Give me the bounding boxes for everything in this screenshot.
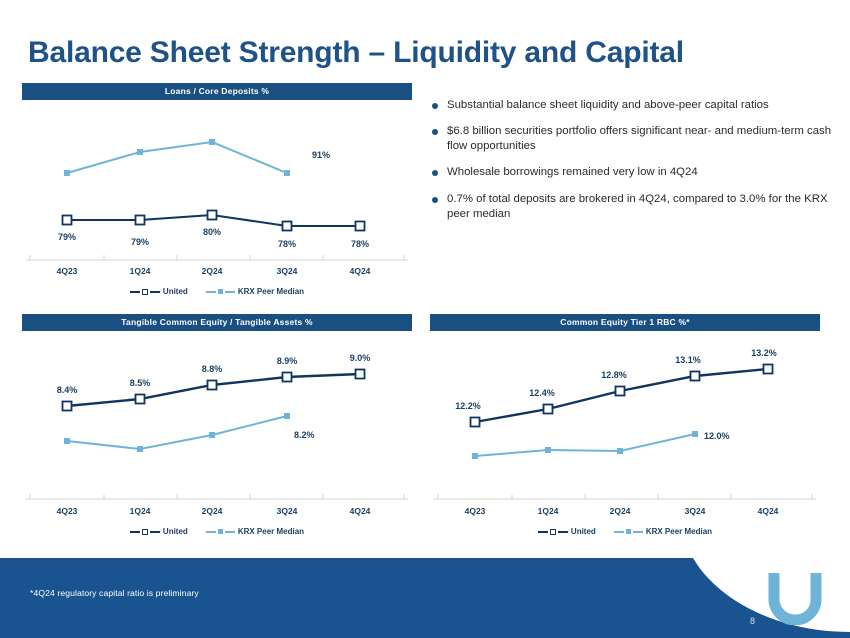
united-community-bank-logo-icon <box>766 567 826 625</box>
legend-label-united: United <box>571 527 596 536</box>
svg-text:12.4%: 12.4% <box>529 388 555 398</box>
chart-panel-loans-core-deposits: Loans / Core Deposits % <box>22 83 412 296</box>
legend-line-peer-icon-2 <box>225 531 235 533</box>
legend-marker-peer-icon <box>218 529 223 534</box>
legend-line-united-icon-2 <box>150 531 160 533</box>
legend-label-peer: KRX Peer Median <box>238 527 304 536</box>
xtick-3q24: 3Q24 <box>685 506 706 516</box>
xtick-4q24: 4Q24 <box>350 266 371 276</box>
list-item: Wholesale borrowings remained very low i… <box>432 165 832 180</box>
legend-line-united-icon-2 <box>150 291 160 293</box>
legend-label-united: United <box>163 287 188 296</box>
chart-xaxis-tce: 4Q23 1Q24 2Q24 3Q24 4Q24 <box>22 503 412 525</box>
bullet-list: Substantial balance sheet liquidity and … <box>432 98 832 233</box>
datalabel-peer-3q24: 91% <box>312 150 330 160</box>
chart-legend-cet1: United KRX Peer Median <box>430 527 820 536</box>
xtick-4q24: 4Q24 <box>350 506 371 516</box>
xtick-4q23: 4Q23 <box>57 506 78 516</box>
legend-line-united-icon-2 <box>558 531 568 533</box>
bullet-text: Substantial balance sheet liquidity and … <box>447 98 769 113</box>
datalabel-peer-tce-3q24: 8.2% <box>294 430 315 440</box>
xtick-3q24: 3Q24 <box>277 266 298 276</box>
xtick-1q24: 1Q24 <box>130 266 151 276</box>
chart-panel-common-equity-tier-1: Common Equity Tier 1 RBC %* <box>430 314 820 536</box>
legend-label-united: United <box>163 527 188 536</box>
legend-line-united-icon <box>538 531 548 533</box>
legend-item-peer: KRX Peer Median <box>206 287 304 296</box>
legend-line-united-icon <box>130 291 140 293</box>
xtick-2q24: 2Q24 <box>610 506 631 516</box>
bullet-dot-icon <box>432 129 438 135</box>
chart-title-loans-core-deposits: Loans / Core Deposits % <box>22 83 412 100</box>
svg-text:9.0%: 9.0% <box>350 353 371 363</box>
legend-line-united-icon <box>130 531 140 533</box>
svg-text:80%: 80% <box>203 227 221 237</box>
legend-marker-united-icon <box>142 529 148 535</box>
bullet-text: 0.7% of total deposits are brokered in 4… <box>447 192 832 222</box>
bullet-dot-icon <box>432 170 438 176</box>
legend-item-peer: KRX Peer Median <box>206 527 304 536</box>
datalabel-peer-cet1-3q24: 12.0% <box>704 431 730 441</box>
bullet-dot-icon <box>432 103 438 109</box>
svg-text:8.4%: 8.4% <box>57 385 78 395</box>
list-item: $6.8 billion securities portfolio offers… <box>432 124 832 154</box>
chart-legend-loans: United KRX Peer Median <box>22 287 412 296</box>
footnote: *4Q24 regulatory capital ratio is prelim… <box>30 588 199 598</box>
chart-svg-tce: 8.4% 8.5% 8.8% 8.9% 9.0% 8.2% <box>22 331 412 503</box>
xtick-2q24: 2Q24 <box>202 266 223 276</box>
chart-title-tangible-common-equity: Tangible Common Equity / Tangible Assets… <box>22 314 412 331</box>
svg-text:12.2%: 12.2% <box>455 401 481 411</box>
legend-line-peer-icon-2 <box>633 531 643 533</box>
svg-text:79%: 79% <box>131 237 149 247</box>
chart-svg-cet1: 12.2% 12.4% 12.8% 13.1% 13.2% 12.0% <box>430 331 820 503</box>
chart-plot-common-equity-tier-1: 12.2% 12.4% 12.8% 13.1% 13.2% 12.0% <box>430 331 820 503</box>
chart-xaxis-cet1: 4Q23 1Q24 2Q24 3Q24 4Q24 <box>430 503 820 525</box>
svg-text:8.5%: 8.5% <box>130 378 151 388</box>
xtick-3q24: 3Q24 <box>277 506 298 516</box>
xtick-4q23: 4Q23 <box>57 266 78 276</box>
svg-text:12.8%: 12.8% <box>601 370 627 380</box>
legend-item-united: United <box>538 527 596 536</box>
xtick-4q24: 4Q24 <box>758 506 779 516</box>
chart-legend-tce: United KRX Peer Median <box>22 527 412 536</box>
legend-marker-united-icon <box>550 529 556 535</box>
svg-text:8.9%: 8.9% <box>277 356 298 366</box>
legend-marker-peer-icon <box>218 289 223 294</box>
svg-text:78%: 78% <box>278 239 296 249</box>
svg-text:13.1%: 13.1% <box>675 355 701 365</box>
page-title: Balance Sheet Strength – Liquidity and C… <box>28 36 684 70</box>
legend-line-peer-icon <box>206 531 216 533</box>
legend-item-peer: KRX Peer Median <box>614 527 712 536</box>
legend-marker-peer-icon <box>626 529 631 534</box>
bullet-dot-icon <box>432 197 438 203</box>
slide-footer: *4Q24 regulatory capital ratio is prelim… <box>0 558 850 638</box>
legend-label-peer: KRX Peer Median <box>646 527 712 536</box>
chart-xaxis-loans: 4Q23 1Q24 2Q24 3Q24 4Q24 <box>22 263 412 285</box>
legend-marker-united-icon <box>142 289 148 295</box>
legend-line-peer-icon-2 <box>225 291 235 293</box>
list-item: 0.7% of total deposits are brokered in 4… <box>432 192 832 222</box>
bullet-text: $6.8 billion securities portfolio offers… <box>447 124 832 154</box>
xtick-2q24: 2Q24 <box>202 506 223 516</box>
list-item: Substantial balance sheet liquidity and … <box>432 98 832 113</box>
svg-text:8.8%: 8.8% <box>202 364 223 374</box>
svg-text:78%: 78% <box>351 239 369 249</box>
xtick-1q24: 1Q24 <box>538 506 559 516</box>
legend-line-peer-icon <box>614 531 624 533</box>
legend-line-peer-icon <box>206 291 216 293</box>
slide: Balance Sheet Strength – Liquidity and C… <box>0 0 850 638</box>
svg-text:13.2%: 13.2% <box>751 348 777 358</box>
chart-svg-loans: 91% 79% 79% 80% 78% 78% <box>22 100 412 263</box>
legend-label-peer: KRX Peer Median <box>238 287 304 296</box>
page-number: 8 <box>750 616 755 626</box>
chart-plot-tangible-common-equity: 8.4% 8.5% 8.8% 8.9% 9.0% 8.2% <box>22 331 412 503</box>
chart-plot-loans-core-deposits: 91% 79% 79% 80% 78% 78% <box>22 100 412 263</box>
xtick-1q24: 1Q24 <box>130 506 151 516</box>
chart-panel-tangible-common-equity: Tangible Common Equity / Tangible Assets… <box>22 314 412 536</box>
bullet-text: Wholesale borrowings remained very low i… <box>447 165 698 180</box>
legend-item-united: United <box>130 287 188 296</box>
svg-text:79%: 79% <box>58 232 76 242</box>
xtick-4q23: 4Q23 <box>465 506 486 516</box>
legend-item-united: United <box>130 527 188 536</box>
chart-title-common-equity-tier-1: Common Equity Tier 1 RBC %* <box>430 314 820 331</box>
